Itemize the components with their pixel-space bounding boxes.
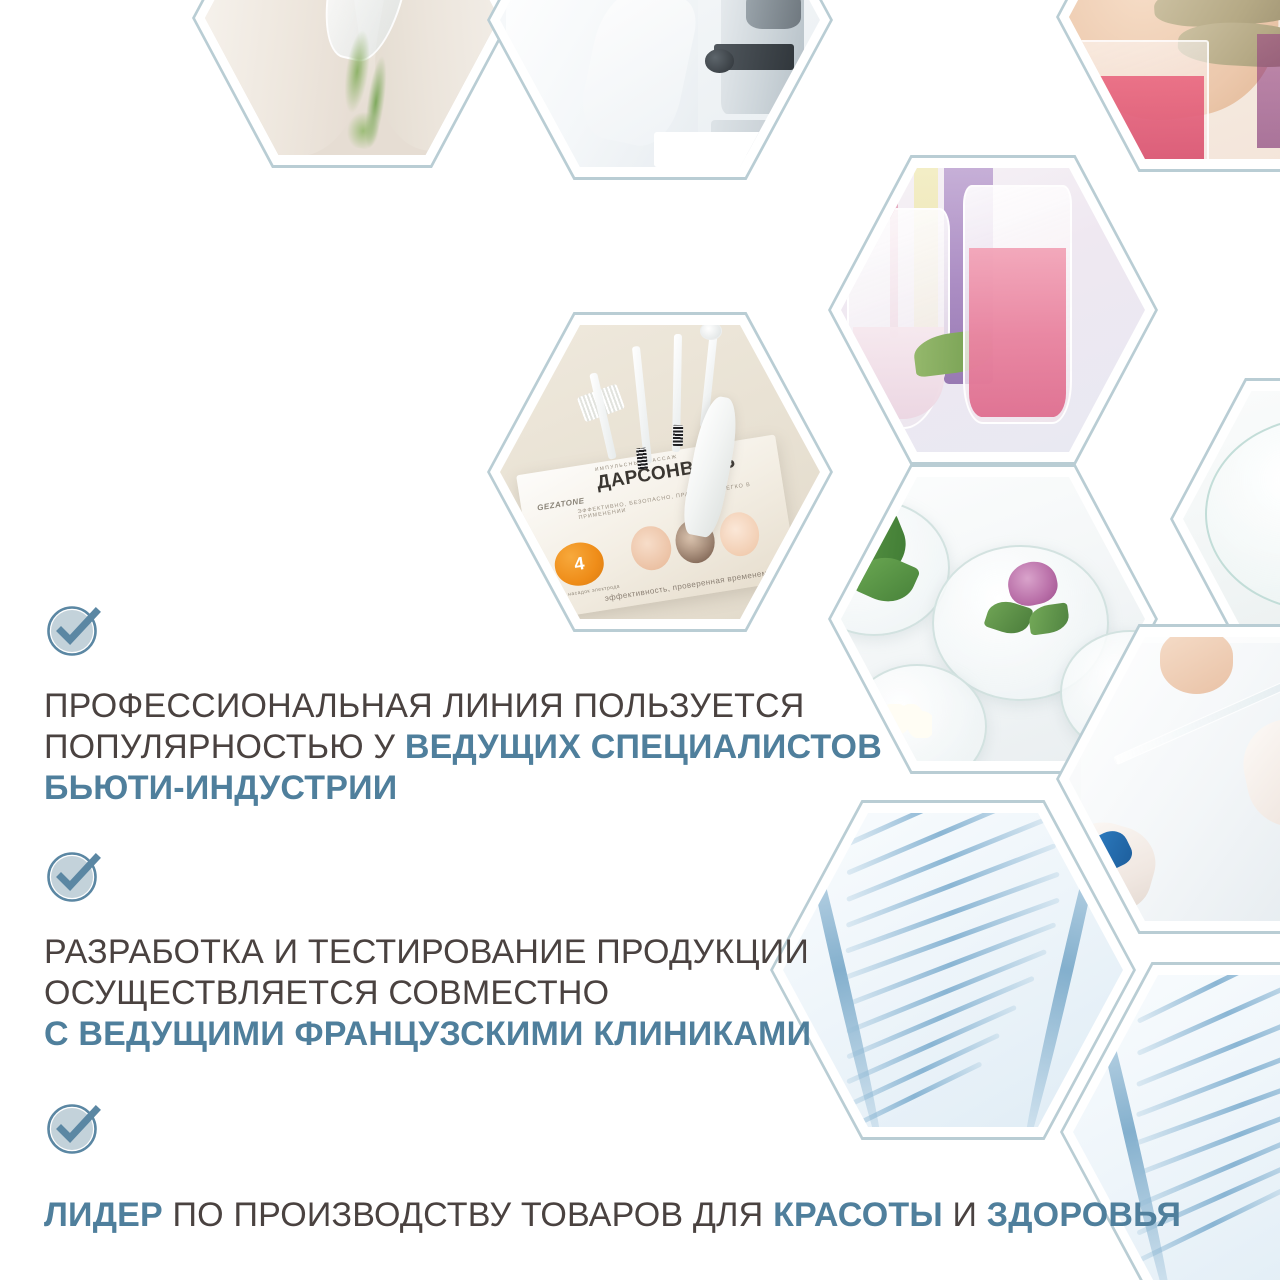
hex-white-frame [773,803,1133,1137]
notepad [654,132,763,167]
hex-white-frame [1173,381,1280,657]
benefit-line: БЬЮТИ-ИНДУСТРИИ [44,768,882,809]
hex-darsonval-product: GEZATONE ИМПУЛЬСНЫЙ МАССАЖ ДАРСОНВАЛЬ ЭФ… [487,312,833,632]
hex-white-frame [195,0,509,165]
product-subtitle: ИМПУЛЬСНЫЙ МАССАЖ [594,455,678,474]
dna-rung [1137,975,1280,1024]
gloved-hand [1069,814,1164,921]
electrode-attachment [672,334,682,452]
benefit-item-2: РАЗРАБОТКА И ТЕСТИРОВАНИЕ ПРОДУКЦИИ ОСУЩ… [44,846,811,1055]
hex-border [828,155,1158,465]
mushroom-electrode [700,325,722,340]
microscope-stage [714,44,794,70]
product-tagline: ЭФФЕКТИВНО, БЕЗОПАСНО, ПРАКТИЧНО, ЛЕГКО … [577,477,784,521]
product-title: ДАРСОНВАЛЬ [595,452,737,496]
hex-technician-pipette [1056,624,1280,934]
benefit-text-2: РАЗРАБОТКА И ТЕСТИРОВАНИЕ ПРОДУКЦИИ ОСУЩ… [44,932,811,1055]
scene-herb-dish [1183,391,1280,647]
benefit-line: ПРОФЕССИОНАЛЬНАЯ ЛИНИЯ ПОЛЬЗУЕТСЯ [44,686,882,727]
gloved-hand [1235,706,1280,834]
dna-rung [1136,1001,1280,1086]
product-photo-hair [672,516,718,566]
hex-border [1056,624,1280,934]
hex-gloved-hands-beaker [1056,0,1280,172]
scene-product-box: GEZATONE ИМПУЛЬСНЫЙ МАССАЖ ДАРСОНВАЛЬ ЭФ… [500,325,820,619]
dna-rung [846,1033,1000,1108]
electrode-attachment [631,345,652,463]
glove-sleeve-left [205,0,375,155]
dna-rung [846,843,1057,928]
test-tube [313,0,432,68]
product-photo-face [628,523,674,573]
petri-dish [932,545,1108,701]
benefit-item-3: ЛИДЕР ПО ПРОИЗВОДСТВУ ТОВАРОВ ДЛЯ КРАСОТ… [44,1098,1181,1236]
stirring-rod [890,168,898,338]
hex-border [487,312,833,632]
electrode-attachment [700,328,719,428]
green-sprout [326,19,413,154]
scene-dna-helix [783,813,1123,1127]
glass-pipette [1113,665,1280,764]
pink-liquid-beaker [963,185,1072,424]
hex-image [841,168,1145,452]
beaker-graduations [1257,34,1280,148]
hex-image [783,813,1123,1127]
scene-petri-dishes [841,477,1145,761]
beaker [1069,40,1209,159]
arm [575,0,701,152]
benefit-line: ПОПУЛЯРНОСТЬЮ У ВЕДУЩИХ СПЕЦИАЛИСТОВ [44,727,882,768]
gloved-finger [1153,0,1280,31]
hex-border [1056,0,1280,172]
background-column [914,168,938,333]
dna-rung [846,976,1035,1060]
clover-leaf [1028,602,1071,636]
dna-rung [846,817,1048,902]
dna-rung [846,922,1057,1007]
hex-white-frame [1059,627,1280,931]
benefit-item-1: ПРОФЕССИОНАЛЬНАЯ ЛИНИЯ ПОЛЬЗУЕТСЯ ПОПУЛЯ… [44,600,882,809]
benefit-text-3: ЛИДЕР ПО ПРОИЗВОДСТВУ ТОВАРОВ ДЛЯ КРАСОТ… [44,1195,1181,1236]
hex-white-frame [1059,0,1280,169]
dna-rung [846,1004,1017,1084]
hex-border [192,0,512,168]
extract-pearls [884,704,933,738]
check-circle-icon [44,1098,104,1158]
attachment-count-caption: типа насадок электрода [553,584,620,601]
microscope-turret [746,0,800,29]
clover-flower [1004,558,1060,610]
hex-border [770,800,1136,1140]
hex-image [205,0,499,155]
attachment-count-badge: 4 [551,540,607,590]
dna-rung [845,897,1060,979]
hex-border [1170,378,1280,660]
hex-white-frame [490,0,830,177]
electrode-ferrule [636,448,648,469]
hex-image [1069,637,1280,921]
lab-coat [1081,643,1280,921]
check-circle-icon [44,600,104,660]
violet-cylinder [944,168,993,384]
mint-leaf [841,512,916,590]
hex-flasks-pink [828,155,1158,465]
pipette-bulb [1081,826,1135,878]
petri-dish [1205,417,1280,612]
conical-flask [847,208,950,430]
neck [1160,637,1233,694]
product-photo-body [716,509,762,559]
comb-electrode [577,383,625,422]
glove-sleeve-right [360,0,499,155]
hex-border [487,0,833,180]
scene-technician [1069,637,1280,921]
microscope-focus-knob [705,49,734,73]
scene-microscope [500,0,820,167]
liquid-droplet [885,177,900,188]
hex-image: GEZATONE ИМПУЛЬСНЫЙ МАССАЖ ДАРСОНВАЛЬ ЭФ… [500,325,820,619]
benefit-text-1: ПРОФЕССИОНАЛЬНАЯ ЛИНИЯ ПОЛЬЗУЕТСЯ ПОПУЛЯ… [44,686,882,809]
dna-rung [846,949,1048,1034]
electrode-attachment [589,372,617,460]
dna-strand [803,813,1102,1127]
hex-image [1069,0,1280,159]
dna-backbone [1017,813,1114,1127]
hex-image [841,477,1145,761]
palm [1069,0,1280,133]
hex-lab-tube-sprout [192,0,512,168]
hex-image [1183,391,1280,647]
microscope-body [721,0,804,114]
hex-scientist-microscope [487,0,833,180]
dna-rung [1137,975,1280,1056]
hex-petri-herbs [1170,378,1280,660]
hex-white-frame [490,315,830,629]
check-circle-icon [44,846,104,906]
scene-gloved-hands [1069,0,1280,159]
benefit-line: С ВЕДУЩИМИ ФРАНЦУЗСКИМИ КЛИНИКАМИ [44,1014,811,1055]
dna-rung [846,813,1017,847]
gloved-finger [1177,19,1280,69]
green-leaf [912,328,995,377]
scene-flasks [841,168,1145,452]
clover-leaf [983,596,1033,639]
benefit-line: РАЗРАБОТКА И ТЕСТИРОВАНИЕ ПРОДУКЦИИ [44,932,811,973]
product-brand-logo: GEZATONE [536,496,585,512]
product-box: GEZATONE ИМПУЛЬСНЫЙ МАССАЖ ДАРСОНВАЛЬ ЭФ… [516,435,798,619]
scene-tube-sprout [205,0,499,155]
hex-dna-helix-top [770,800,1136,1140]
poster-root: GEZATONE ИМПУЛЬСНЫЙ МАССАЖ ДАРСОНВАЛЬ ЭФ… [0,0,1280,1280]
petri-dish [1060,630,1145,755]
hex-image [500,0,820,167]
product-claim: эффективность, проверенная временем [604,568,768,603]
darsonval-handle [679,393,744,539]
electrode-ferrule [673,425,683,446]
dna-rung [845,871,1060,953]
benefit-line: ЛИДЕР ПО ПРОИЗВОДСТВУ ТОВАРОВ ДЛЯ КРАСОТ… [44,1195,1181,1236]
lab-coat [506,0,698,167]
hex-white-frame [831,158,1155,462]
dna-rung [846,813,1035,875]
microscope-base [711,120,807,155]
benefit-line: ОСУЩЕСТВЛЯЕТСЯ СОВМЕСТНО [44,973,811,1014]
